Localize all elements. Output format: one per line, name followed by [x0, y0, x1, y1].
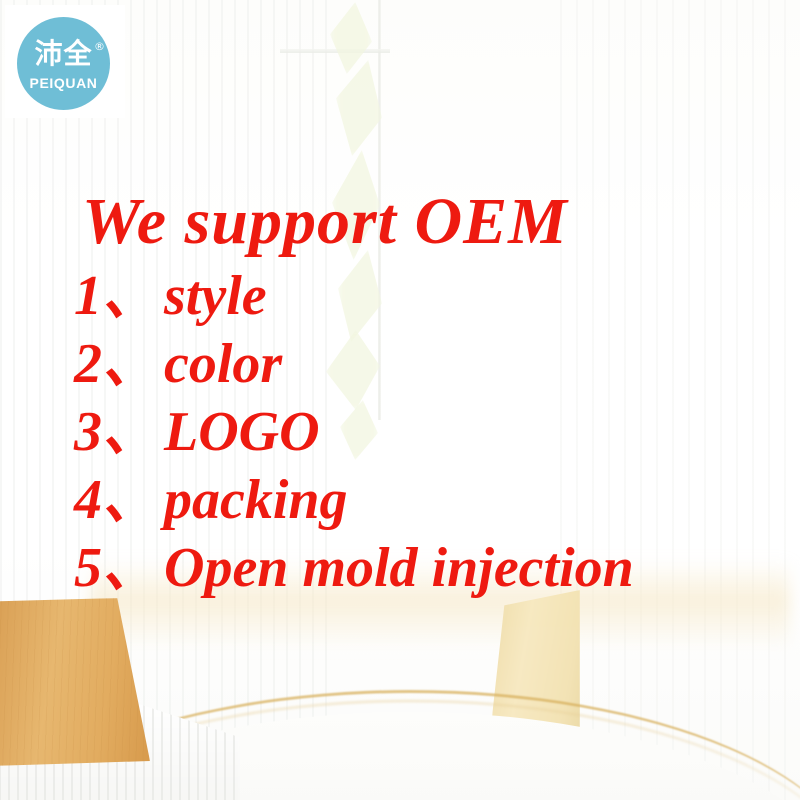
list-item: 3、 LOGO: [74, 398, 794, 466]
list-item-label: packing: [164, 466, 348, 534]
product-promo-image: 沛全 ® PEIQUAN We support OEM 1、 style 2、 …: [0, 0, 800, 800]
brand-logo: 沛全 ® PEIQUAN: [5, 5, 125, 118]
list-item-marker: 2、: [74, 330, 164, 398]
list-item-marker: 4、: [74, 466, 164, 534]
list-item-marker: 5、: [74, 534, 164, 602]
window-transom: [280, 49, 390, 53]
registered-trademark-icon: ®: [94, 41, 105, 52]
list-item-label: LOGO: [164, 398, 320, 466]
logo-circle: 沛全 ® PEIQUAN: [17, 17, 110, 110]
logo-latin-name: PEIQUAN: [17, 75, 110, 91]
list-item-marker: 3、: [74, 398, 164, 466]
list-item: 5、 Open mold injection: [74, 534, 794, 602]
list-item: 4、 packing: [74, 466, 794, 534]
list-item: 1、 style: [74, 262, 794, 330]
promo-list: 1、 style 2、 color 3、 LOGO 4、 packing 5、 …: [74, 262, 794, 602]
list-item-label: Open mold injection: [164, 534, 634, 602]
list-item-marker: 1、: [74, 262, 164, 330]
list-item-label: style: [164, 262, 267, 330]
list-item-label: color: [164, 330, 282, 398]
list-item: 2、 color: [74, 330, 794, 398]
promo-heading: We support OEM: [82, 188, 568, 256]
